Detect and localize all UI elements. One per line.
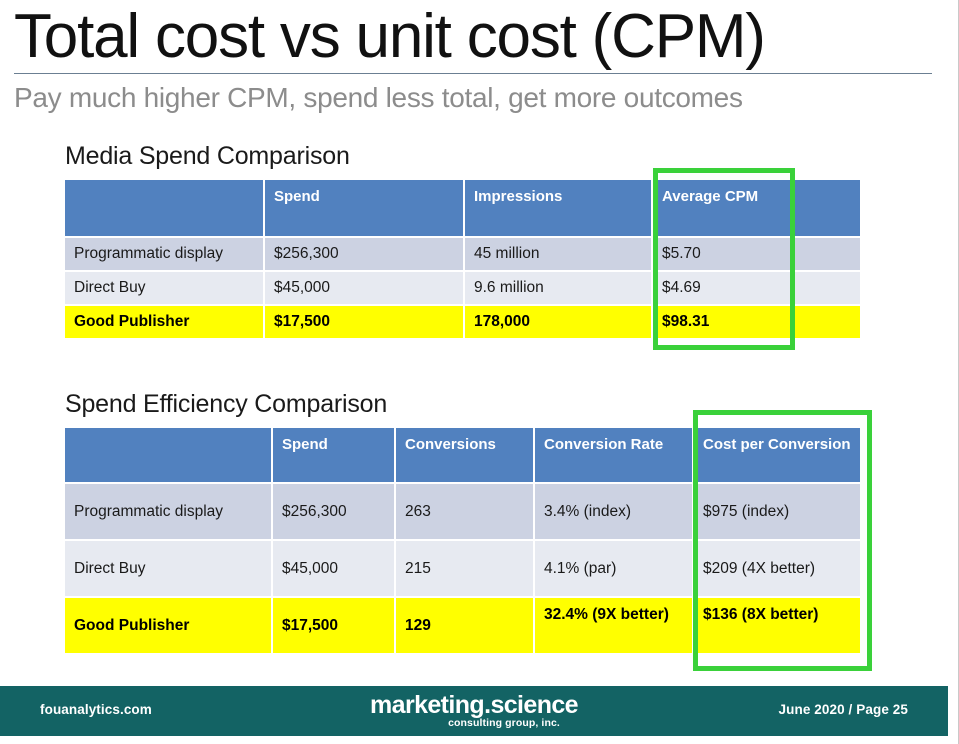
column-header-spend: Spend	[265, 180, 465, 238]
cell-impressions: 45 million	[465, 238, 653, 272]
cell-spend: $45,000	[265, 272, 465, 306]
column-header-entity	[65, 428, 273, 484]
table-row: Direct Buy $45,000 215 4.1% (par) $209 (…	[65, 541, 862, 598]
section-heading-spend-efficiency: Spend Efficiency Comparison	[65, 390, 387, 419]
cell-spend: $45,000	[273, 541, 396, 598]
page-subtitle: Pay much higher CPM, spend less total, g…	[14, 78, 932, 118]
table-row: Programmatic display $256,300 45 million…	[65, 238, 862, 272]
cell-conversions: 215	[396, 541, 535, 598]
cell-label: Direct Buy	[65, 272, 265, 306]
cell-spend: $17,500	[265, 306, 465, 340]
cell-conversion-rate: 32.4% (9X better)	[535, 598, 694, 655]
cell-average-cpm: $4.69	[653, 272, 795, 306]
title-divider	[14, 73, 932, 74]
title-block: Total cost vs unit cost (CPM) Pay much h…	[14, 2, 932, 118]
column-header-impressions: Impressions	[465, 180, 653, 238]
table-row-highlighted: Good Publisher $17,500 178,000 $98.31	[65, 306, 862, 340]
footer-bar: fouanalytics.com marketing.science consu…	[0, 686, 948, 736]
column-header-entity	[65, 180, 265, 238]
section-heading-media-spend: Media Spend Comparison	[65, 142, 350, 171]
cell-cost-per-conversion: $136 (8X better)	[694, 598, 862, 655]
cell-spend: $256,300	[265, 238, 465, 272]
cell-label: Direct Buy	[65, 541, 273, 598]
cell-conversions: 263	[396, 484, 535, 541]
footer-date-page: June 2020 / Page 25	[779, 702, 908, 717]
cell-impressions: 178,000	[465, 306, 653, 340]
slide-canvas: Total cost vs unit cost (CPM) Pay much h…	[0, 0, 959, 744]
cell-conversions: 129	[396, 598, 535, 655]
cell-conversion-rate: 4.1% (par)	[535, 541, 694, 598]
cell-cost-per-conversion: $975 (index)	[694, 484, 862, 541]
cell-average-cpm: $98.31	[653, 306, 795, 340]
media-spend-table: Spend Impressions Average CPM Programmat…	[65, 180, 862, 340]
column-header-conversions: Conversions	[396, 428, 535, 484]
column-header-conversion-rate: Conversion Rate	[535, 428, 694, 484]
column-header-trailing	[795, 180, 862, 238]
cell-trailing	[795, 238, 862, 272]
page-title: Total cost vs unit cost (CPM)	[14, 2, 932, 72]
table-header-row: Spend Conversions Conversion Rate Cost p…	[65, 428, 862, 484]
cell-conversion-rate: 3.4% (index)	[535, 484, 694, 541]
table-row: Programmatic display $256,300 263 3.4% (…	[65, 484, 862, 541]
table-row-highlighted: Good Publisher $17,500 129 32.4% (9X bet…	[65, 598, 862, 655]
cell-spend: $256,300	[273, 484, 396, 541]
cell-label: Programmatic display	[65, 238, 265, 272]
table-row: Direct Buy $45,000 9.6 million $4.69	[65, 272, 862, 306]
cell-label: Programmatic display	[65, 484, 273, 541]
column-header-average-cpm: Average CPM	[653, 180, 795, 238]
cell-trailing	[795, 306, 862, 340]
column-header-cost-per-conversion: Cost per Conversion	[694, 428, 862, 484]
cell-trailing	[795, 272, 862, 306]
cell-label: Good Publisher	[65, 598, 273, 655]
cell-spend: $17,500	[273, 598, 396, 655]
cell-impressions: 9.6 million	[465, 272, 653, 306]
cell-label: Good Publisher	[65, 306, 265, 340]
spend-efficiency-table: Spend Conversions Conversion Rate Cost p…	[65, 428, 862, 655]
cell-average-cpm: $5.70	[653, 238, 795, 272]
footer-logo-secondary: consulting group, inc.	[0, 717, 948, 729]
column-header-spend: Spend	[273, 428, 396, 484]
table-header-row: Spend Impressions Average CPM	[65, 180, 862, 238]
cell-cost-per-conversion: $209 (4X better)	[694, 541, 862, 598]
